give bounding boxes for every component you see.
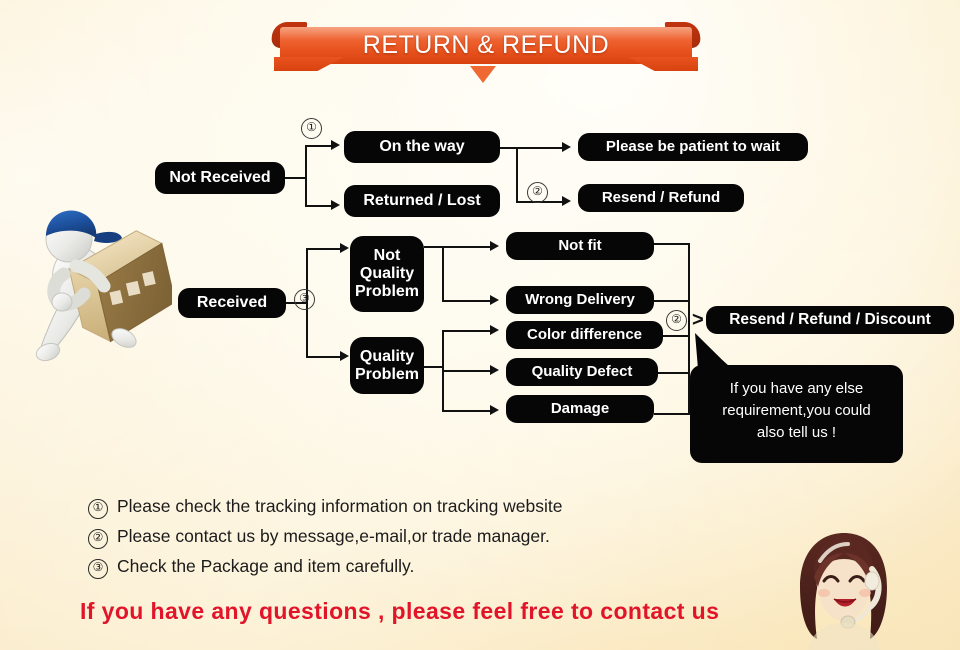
connector-line (306, 248, 342, 250)
connector-line (442, 330, 492, 332)
page-title: RETURN & REFUND (280, 27, 692, 64)
arrow-icon (340, 243, 349, 253)
connector-line (305, 205, 333, 207)
connector-line (442, 410, 492, 412)
connector-line (285, 177, 307, 179)
node-line: Problem (355, 366, 419, 384)
legend-number: ③ (88, 559, 108, 579)
return-refund-infographic: RETURN & REFUND (0, 0, 960, 650)
callout-bubble: If you have any else requirement,you cou… (690, 365, 903, 463)
node-quality-problem: Quality Problem (350, 337, 424, 394)
connector-line (516, 147, 564, 149)
headset-support-agent-icon (786, 525, 901, 650)
arrow-icon (340, 351, 349, 361)
step-marker-2-bottom: ② (666, 310, 687, 331)
node-wrong-delivery: Wrong Delivery (506, 286, 654, 314)
legend-number: ① (88, 499, 108, 519)
arrow-icon (331, 140, 340, 150)
node-please-be-patient: Please be patient to wait (578, 133, 808, 161)
connector-line (654, 413, 690, 415)
node-line: Problem (355, 283, 419, 301)
legend-number: ② (88, 529, 108, 549)
legend-item: ① Please check the tracking information … (88, 496, 563, 519)
connector-line (306, 356, 342, 358)
connector-line (654, 243, 690, 245)
connector-line (424, 366, 444, 368)
down-triangle-icon (470, 66, 496, 83)
node-line: Quality (360, 265, 414, 283)
step-marker-1: ① (301, 118, 322, 139)
connector-line (424, 246, 444, 248)
connector-line (442, 300, 492, 302)
node-not-received: Not Received (155, 162, 285, 194)
running-courier-with-box-icon (12, 182, 172, 372)
arrow-icon (331, 200, 340, 210)
arrow-icon (562, 142, 571, 152)
node-damage: Damage (506, 395, 654, 423)
callout-line-2: requirement,you could (700, 400, 893, 422)
arrow-icon (490, 295, 499, 305)
node-not-quality-problem: Not Quality Problem (350, 236, 424, 312)
connector-line (663, 335, 690, 337)
callout-line-1: If you have any else (700, 378, 893, 400)
node-line: Quality (360, 348, 414, 366)
arrow-icon (490, 365, 499, 375)
legend-list: ① Please check the tracking information … (88, 496, 563, 586)
node-color-difference: Color difference (506, 321, 663, 349)
banner: RETURN & REFUND (272, 22, 700, 64)
legend-text: Check the Package and item carefully. (117, 556, 414, 577)
legend-text: Please contact us by message,e-mail,or t… (117, 526, 550, 547)
connector-line (305, 145, 333, 147)
arrow-icon (490, 241, 499, 251)
banner-body: RETURN & REFUND (280, 27, 692, 64)
connector-line (516, 147, 518, 203)
step-marker-2-top: ② (527, 182, 548, 203)
arrow-icon (490, 405, 499, 415)
node-returned-lost: Returned / Lost (344, 185, 500, 217)
step-marker-3: ③ (294, 289, 315, 310)
callout-line-3: also tell us ! (700, 422, 893, 444)
legend-item: ② Please contact us by message,e-mail,or… (88, 526, 563, 549)
legend-text: Please check the tracking information on… (117, 496, 563, 517)
node-quality-defect: Quality Defect (506, 358, 658, 386)
connector-line (654, 300, 690, 302)
node-on-the-way: On the way (344, 131, 500, 163)
connector-line (658, 372, 690, 374)
node-received: Received (178, 288, 286, 318)
connector-line (442, 246, 492, 248)
arrow-icon (490, 325, 499, 335)
connector-line (442, 246, 444, 302)
connector-line (442, 370, 492, 372)
connector-line (305, 145, 307, 207)
contact-tagline: If you have any questions , please feel … (80, 598, 719, 625)
node-not-fit: Not fit (506, 232, 654, 260)
arrow-head-mark: > (692, 310, 704, 330)
node-resend-refund-discount: Resend / Refund / Discount (706, 306, 954, 334)
arrow-icon (562, 196, 571, 206)
legend-item: ③ Check the Package and item carefully. (88, 556, 563, 579)
node-resend-refund: Resend / Refund (578, 184, 744, 212)
node-line: Not (374, 247, 401, 265)
